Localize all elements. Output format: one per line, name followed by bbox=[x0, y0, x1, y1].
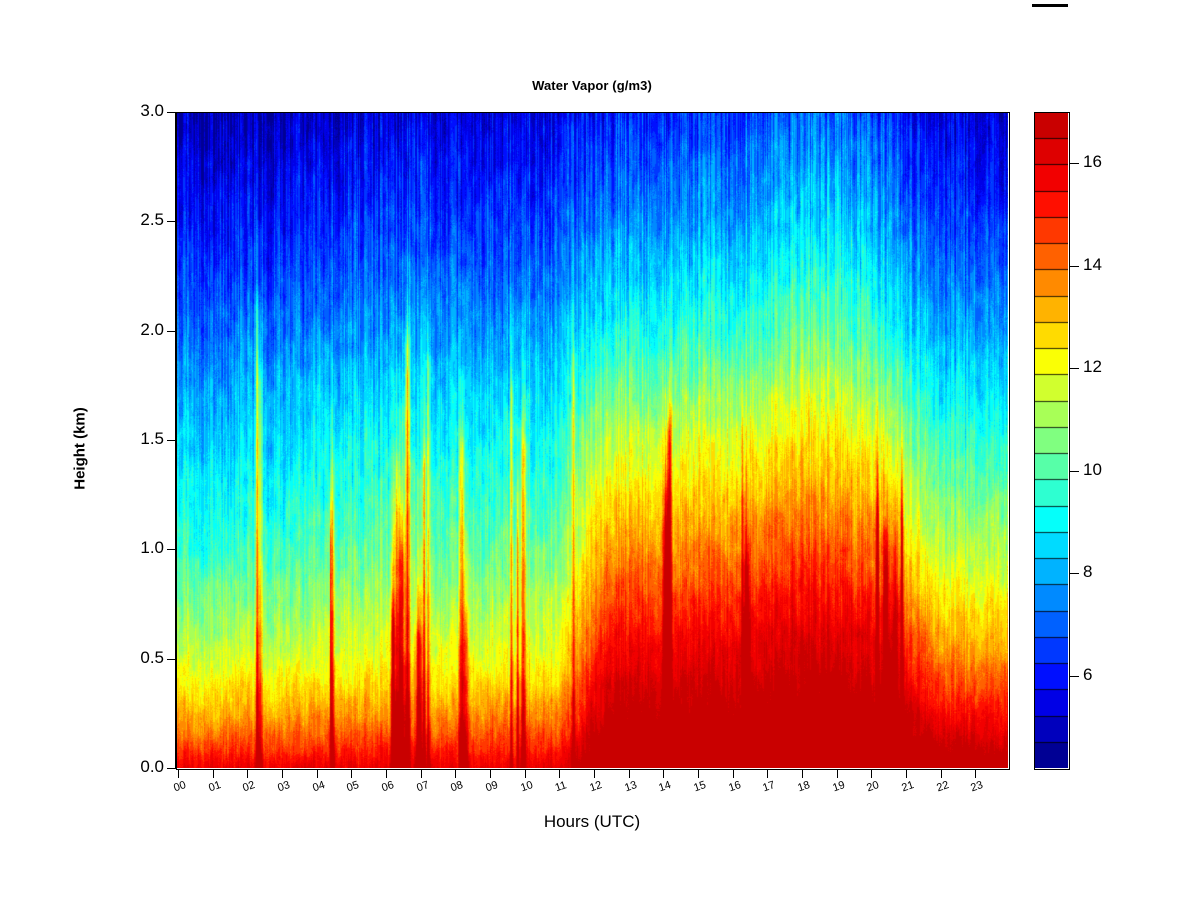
y-tick-label: 1.0 bbox=[140, 538, 164, 558]
x-tick-mark bbox=[213, 770, 214, 778]
y-tick-mark bbox=[167, 768, 175, 769]
colorbar-tick-label: 8 bbox=[1083, 562, 1092, 582]
x-tick-label: 00 bbox=[167, 777, 194, 796]
y-tick-mark bbox=[167, 659, 175, 660]
y-tick-label: 2.5 bbox=[140, 210, 164, 230]
x-tick-label: 17 bbox=[756, 777, 783, 796]
colorbar bbox=[1034, 112, 1068, 768]
y-tick-mark bbox=[167, 221, 175, 222]
y-axis-title: Height (km) bbox=[72, 349, 89, 549]
x-tick-label: 18 bbox=[791, 777, 818, 796]
x-tick-mark bbox=[559, 770, 560, 778]
y-tick-mark bbox=[167, 112, 175, 113]
colorbar-tick-label: 14 bbox=[1083, 255, 1102, 275]
x-tick-label: 03 bbox=[271, 777, 298, 796]
colorbar-tick-label: 12 bbox=[1083, 357, 1102, 377]
x-tick-label: 02 bbox=[236, 777, 263, 796]
colorbar-tick-label: 16 bbox=[1083, 152, 1102, 172]
y-tick-label: 3.0 bbox=[140, 101, 164, 121]
y-tick-mark bbox=[167, 549, 175, 550]
x-axis-title: Hours (UTC) bbox=[176, 812, 1008, 832]
colorbar-tick-mark bbox=[1070, 573, 1079, 574]
colorbar-tick-mark bbox=[1070, 676, 1079, 677]
x-tick-mark bbox=[282, 770, 283, 778]
x-tick-mark bbox=[386, 770, 387, 778]
x-tick-mark bbox=[941, 770, 942, 778]
x-tick-mark bbox=[767, 770, 768, 778]
y-tick-mark bbox=[167, 331, 175, 332]
x-tick-label: 15 bbox=[687, 777, 714, 796]
colorbar-tick-mark bbox=[1070, 163, 1079, 164]
x-tick-mark bbox=[594, 770, 595, 778]
y-tick-label: 1.5 bbox=[140, 429, 164, 449]
x-tick-mark bbox=[906, 770, 907, 778]
x-tick-label: 10 bbox=[514, 777, 541, 796]
colorbar-tick-mark bbox=[1070, 471, 1079, 472]
x-tick-mark bbox=[733, 770, 734, 778]
y-axis-line bbox=[175, 112, 176, 769]
x-tick-mark bbox=[455, 770, 456, 778]
x-tick-mark bbox=[351, 770, 352, 778]
x-tick-label: 11 bbox=[548, 777, 575, 796]
x-tick-label: 12 bbox=[583, 777, 610, 796]
x-tick-label: 14 bbox=[652, 777, 679, 796]
x-tick-mark bbox=[178, 770, 179, 778]
top-right-artifact-mark bbox=[1032, 4, 1068, 7]
x-tick-mark bbox=[802, 770, 803, 778]
x-tick-mark bbox=[317, 770, 318, 778]
x-tick-label: 01 bbox=[202, 777, 229, 796]
figure-root: Water Vapor (g/m3) 0.00.51.01.52.02.53.0… bbox=[0, 0, 1200, 900]
y-tick-label: 2.0 bbox=[140, 320, 164, 340]
x-axis-line bbox=[176, 769, 1009, 770]
x-tick-label: 23 bbox=[964, 777, 991, 796]
x-tick-label: 04 bbox=[306, 777, 333, 796]
x-tick-mark bbox=[490, 770, 491, 778]
x-tick-label: 16 bbox=[722, 777, 749, 796]
y-tick-label: 0.5 bbox=[140, 648, 164, 668]
heatmap-plot-area bbox=[176, 112, 1008, 768]
colorbar-tick-label: 10 bbox=[1083, 460, 1102, 480]
x-tick-mark bbox=[629, 770, 630, 778]
x-tick-label: 19 bbox=[826, 777, 853, 796]
x-tick-mark bbox=[698, 770, 699, 778]
x-tick-mark bbox=[525, 770, 526, 778]
x-tick-label: 08 bbox=[444, 777, 471, 796]
colorbar-tick-label: 6 bbox=[1083, 665, 1092, 685]
x-tick-label: 06 bbox=[375, 777, 402, 796]
x-tick-label: 20 bbox=[860, 777, 887, 796]
y-tick-label: 0.0 bbox=[140, 757, 164, 777]
x-tick-mark bbox=[663, 770, 664, 778]
x-tick-label: 05 bbox=[340, 777, 367, 796]
x-tick-mark bbox=[247, 770, 248, 778]
plot-title: Water Vapor (g/m3) bbox=[176, 78, 1008, 93]
y-tick-mark bbox=[167, 440, 175, 441]
colorbar-tick-mark bbox=[1070, 368, 1079, 369]
x-tick-mark bbox=[975, 770, 976, 778]
water-vapor-heatmap-canvas bbox=[176, 112, 1008, 768]
x-tick-label: 07 bbox=[410, 777, 437, 796]
x-tick-label: 09 bbox=[479, 777, 506, 796]
x-tick-mark bbox=[837, 770, 838, 778]
colorbar-tick-mark bbox=[1070, 266, 1079, 267]
x-tick-label: 13 bbox=[618, 777, 645, 796]
x-tick-mark bbox=[421, 770, 422, 778]
x-tick-label: 22 bbox=[930, 777, 957, 796]
x-tick-mark bbox=[871, 770, 872, 778]
colorbar-canvas bbox=[1034, 112, 1068, 768]
x-tick-label: 21 bbox=[895, 777, 922, 796]
